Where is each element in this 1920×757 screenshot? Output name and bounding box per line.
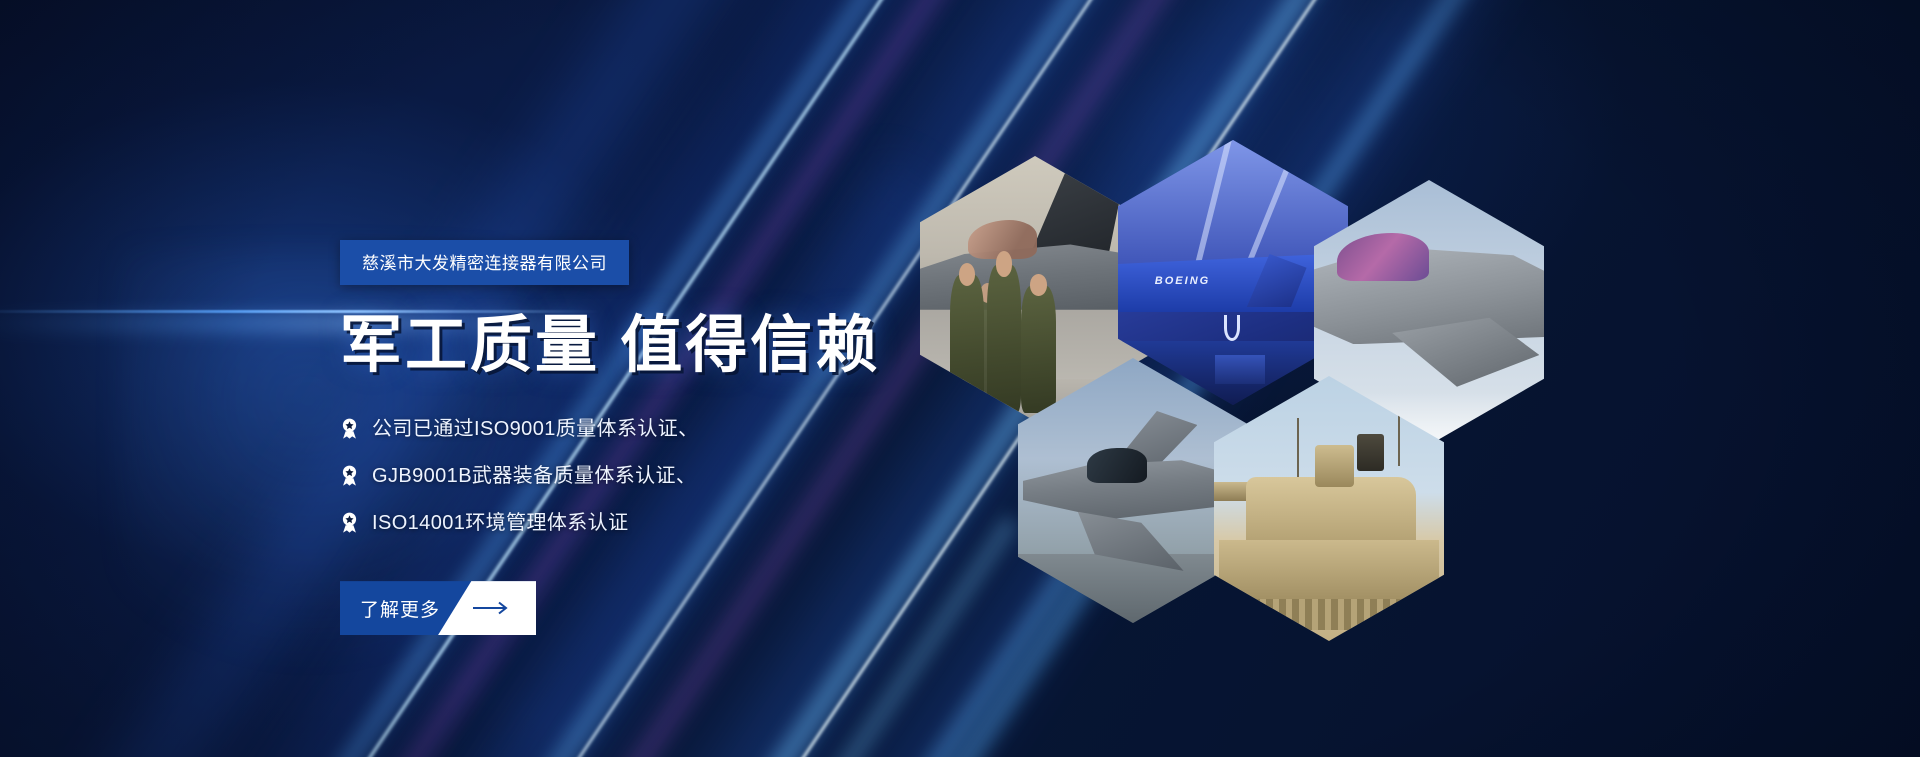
medal-icon bbox=[340, 465, 359, 486]
learn-more-label: 了解更多 bbox=[360, 581, 440, 635]
medal-icon bbox=[340, 512, 359, 533]
list-item-label: 公司已通过ISO9001质量体系认证、 bbox=[372, 419, 699, 439]
arrow-right-icon bbox=[464, 581, 520, 635]
list-item: ISO14001环境管理体系认证 bbox=[340, 512, 1040, 533]
list-item: GJB9001B武器装备质量体系认证、 bbox=[340, 465, 1040, 486]
certification-list: 公司已通过ISO9001质量体系认证、 GJB9001B武器装备质量体系认证、 bbox=[340, 418, 1040, 533]
hero-content: 慈溪市大发精密连接器有限公司 军工质量 值得信赖 公司已通过ISO9001质量体… bbox=[340, 0, 1040, 757]
page-title: 军工质量 值得信赖 bbox=[340, 313, 1040, 378]
company-name-badge: 慈溪市大发精密连接器有限公司 bbox=[340, 240, 629, 285]
medal-icon bbox=[340, 418, 359, 439]
list-item-label: ISO14001环境管理体系认证 bbox=[372, 513, 628, 533]
hero-banner: BOEING bbox=[0, 0, 1920, 757]
learn-more-button[interactable]: 了解更多 bbox=[340, 581, 536, 635]
boeing-aircraft-hexagon: BOEING bbox=[1118, 140, 1348, 405]
boeing-logo-text: BOEING bbox=[1155, 275, 1210, 287]
list-item: 公司已通过ISO9001质量体系认证、 bbox=[340, 418, 1040, 439]
list-item-label: GJB9001B武器装备质量体系认证、 bbox=[372, 466, 696, 486]
